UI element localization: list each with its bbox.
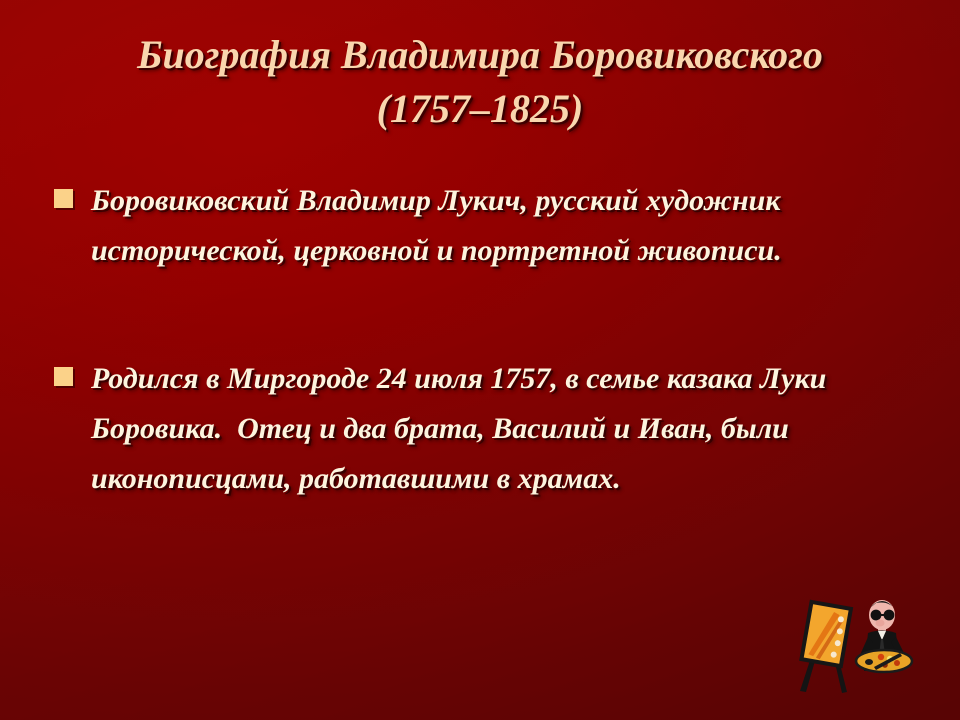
square-bullet-icon — [54, 367, 73, 386]
palette-icon — [856, 650, 912, 672]
presentation-slide: Биография Владимира Боровиковского (1757… — [0, 0, 960, 720]
square-bullet-icon — [54, 189, 73, 208]
slide-body: Боровиковский Владимир Лукич, русский ху… — [54, 176, 934, 504]
title-line-1: Биография Владимира Боровиковского — [50, 30, 910, 80]
artist-with-easel-clipart — [790, 595, 950, 700]
bullet-text-2: Родился в Миргороде 24 июля 1757, в семь… — [91, 354, 934, 504]
bullet-item-1: Боровиковский Владимир Лукич, русский ху… — [54, 176, 934, 276]
bullet-text-1: Боровиковский Владимир Лукич, русский ху… — [91, 176, 934, 276]
glasses-icon — [871, 610, 882, 621]
slide-title: Биография Владимира Боровиковского (1757… — [50, 30, 910, 134]
easel-icon — [799, 600, 853, 693]
artist-easel-svg — [790, 595, 950, 700]
title-line-2: (1757–1825) — [50, 84, 910, 134]
bullet-item-2: Родился в Миргороде 24 июля 1757, в семь… — [54, 354, 934, 504]
